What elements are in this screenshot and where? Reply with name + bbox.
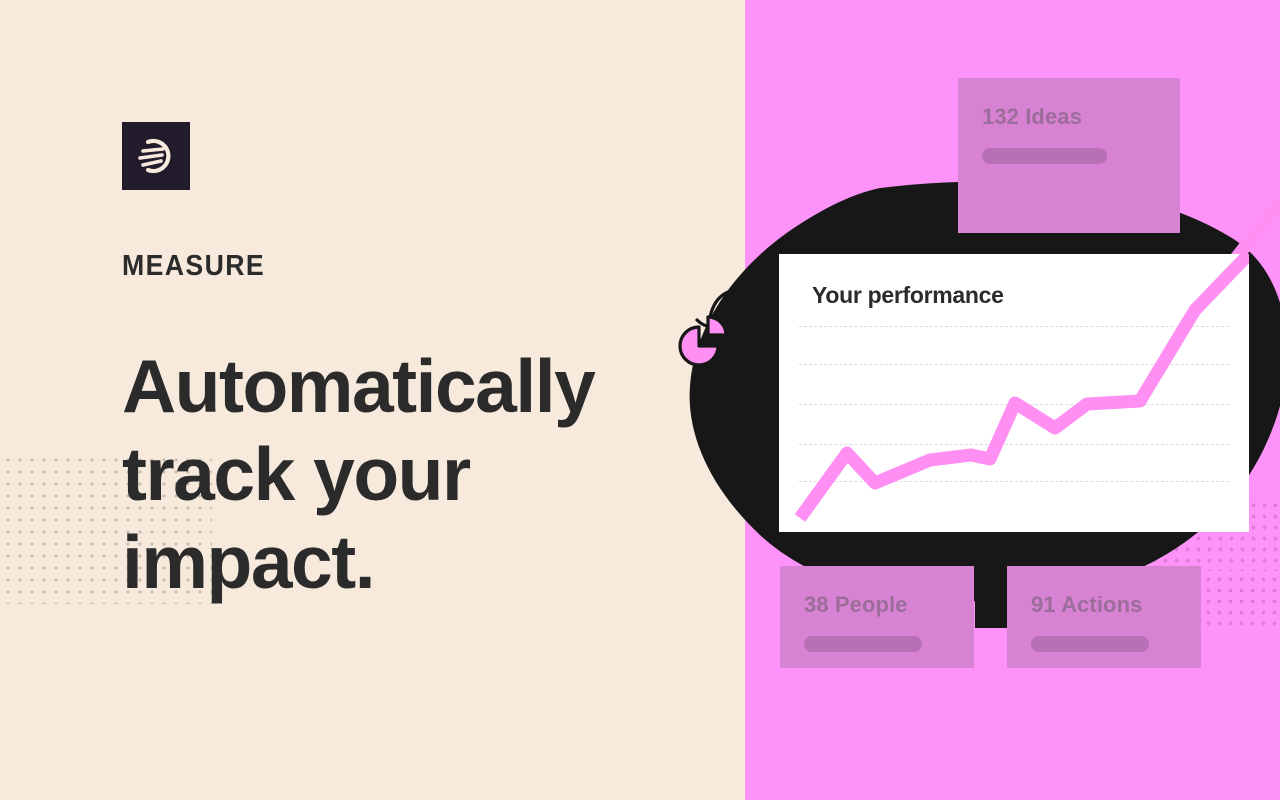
brand-logo-tile xyxy=(122,122,190,190)
stat-label-actions: 91 Actions xyxy=(1031,592,1177,618)
stat-bar-ideas xyxy=(982,148,1107,164)
performance-line-chart xyxy=(779,254,1249,532)
pie-chart-icon xyxy=(680,317,726,365)
stat-bar-actions xyxy=(1031,636,1149,652)
dot-grid-pattern-right-lower-icon xyxy=(1200,571,1280,631)
stat-card-people[interactable]: 38 People xyxy=(780,566,974,668)
stat-bar-people xyxy=(804,636,922,652)
stat-card-ideas[interactable]: 132 Ideas xyxy=(958,78,1180,233)
speed-lines-circle-icon xyxy=(134,134,178,178)
loop-line-icon xyxy=(697,291,747,341)
stat-label-people: 38 People xyxy=(804,592,950,618)
page-title: Automatically track your impact. xyxy=(122,342,682,606)
stat-label-ideas: 132 Ideas xyxy=(982,104,1156,130)
stat-card-actions[interactable]: 91 Actions xyxy=(1007,566,1201,668)
promo-graphic: MEASURE Automatically track your impact.… xyxy=(0,0,1280,800)
performance-card[interactable]: Your performance xyxy=(779,254,1249,532)
eyebrow-label: MEASURE xyxy=(122,250,265,283)
chart-series-performance xyxy=(800,254,1249,518)
